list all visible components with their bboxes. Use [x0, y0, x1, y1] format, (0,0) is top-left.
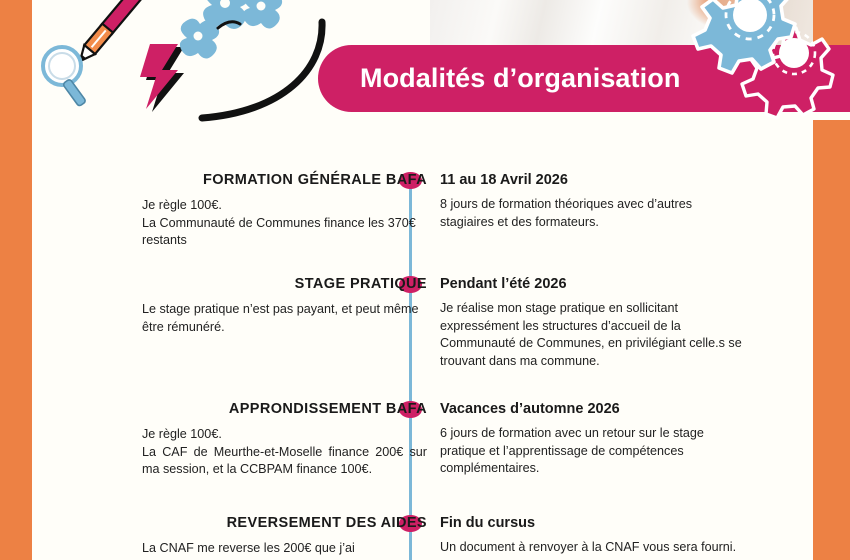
timeline-left-body: Le stage pratique n’est pas payant, et p…: [142, 301, 427, 337]
flower-icon: [180, 19, 219, 59]
timeline-right-title: 11 au 18 Avril 2026: [440, 172, 745, 189]
timeline-left-column: FORMATION GÉNÉRALE BAFA Je règle 100€. L…: [142, 172, 427, 250]
orange-bar-right: [813, 120, 850, 560]
timeline-right-column: Vacances d’automne 2026 6 jours de forma…: [440, 401, 745, 478]
curved-arc-icon: [202, 22, 322, 118]
timeline-left-column: APPRONDISSEMENT BAFA Je règle 100€. La C…: [142, 401, 427, 479]
timeline-left-column: STAGE PRATIQUE Le stage pratique n’est p…: [142, 276, 427, 336]
gears-decoration: [690, 0, 850, 121]
timeline-right-body: 6 jours de formation avec un retour sur …: [440, 425, 745, 479]
pencil-icon: [75, 0, 143, 66]
timeline-left-body: Je règle 100€. La CAF de Meurthe-et-Mose…: [142, 426, 427, 480]
timeline-left-body: La CNAF me reverse les 200€ que j’ai: [142, 540, 427, 558]
timeline-right-body: Un document à renvoyer à la CNAF vous se…: [440, 539, 745, 557]
timeline-right-column: 11 au 18 Avril 2026 8 jours de formation…: [440, 172, 745, 231]
timeline-left-title: FORMATION GÉNÉRALE BAFA: [142, 172, 427, 189]
timeline-right-column: Pendant l’été 2026 Je réalise mon stage …: [440, 276, 745, 371]
timeline-right-title: Fin du cursus: [440, 515, 745, 532]
timeline-left-body: Je règle 100€. La Communauté de Communes…: [142, 197, 427, 251]
timeline-right-body: 8 jours de formation théoriques avec d’a…: [440, 196, 745, 232]
timeline-left-title: STAGE PRATIQUE: [142, 276, 427, 293]
timeline-right-body: Je réalise mon stage pratique en sollici…: [440, 300, 745, 372]
timeline-left-title: APPRONDISSEMENT BAFA: [142, 401, 427, 418]
magnifier-icon: [43, 47, 86, 107]
timeline-right-column: Fin du cursus Un document à renvoyer à l…: [440, 515, 745, 557]
timeline-left-title: REVERSEMENT DES AIDES: [142, 515, 427, 532]
page-title: Modalités d’organisation: [360, 63, 680, 94]
timeline-right-title: Vacances d’automne 2026: [440, 401, 745, 418]
orange-bar-left: [0, 0, 32, 560]
timeline-left-column: REVERSEMENT DES AIDES La CNAF me reverse…: [142, 515, 427, 558]
decorative-doodles: [32, 0, 332, 130]
lightning-bolt-icon: [140, 44, 184, 112]
flower-icon: [243, 0, 282, 29]
poster-page: Modalités d’organisation FORMATION GÉNÉR…: [0, 0, 850, 560]
timeline-right-title: Pendant l’été 2026: [440, 276, 745, 293]
